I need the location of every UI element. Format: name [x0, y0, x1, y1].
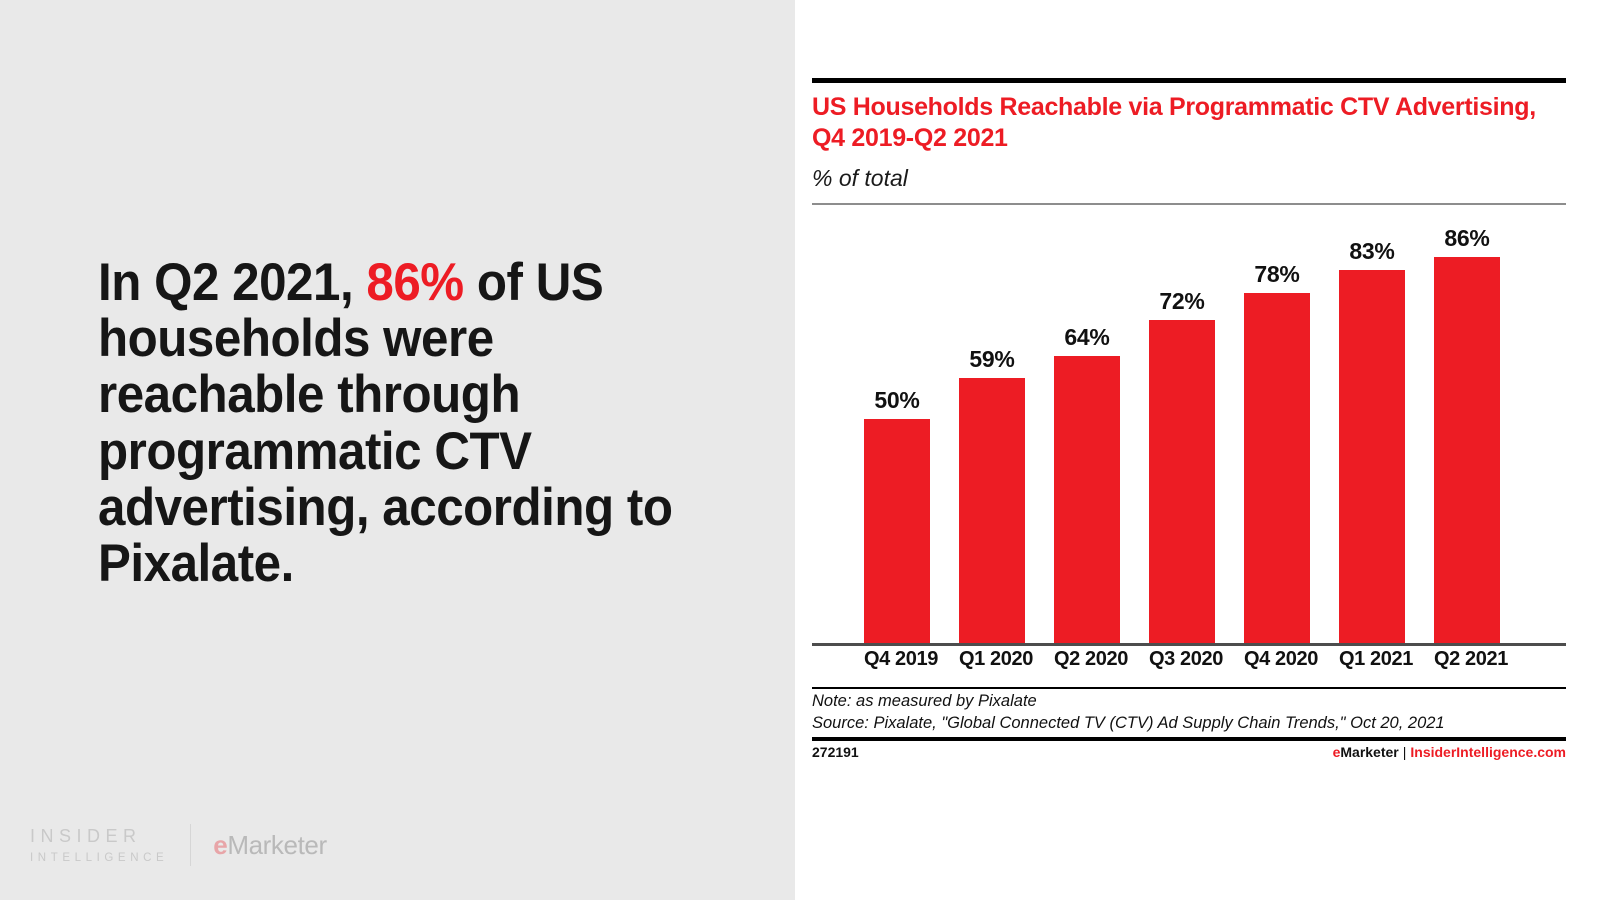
- x-axis-line: [812, 643, 1566, 646]
- plot-area: 50%59%64%72%78%83%86%: [812, 210, 1566, 644]
- bar-column[interactable]: 86%: [1434, 210, 1500, 644]
- bar-value-label: 78%: [1254, 261, 1299, 288]
- x-axis-label: Q4 2020: [1244, 648, 1310, 682]
- chart-title: US Households Reachable via Programmatic…: [812, 92, 1552, 153]
- bar-column[interactable]: 83%: [1339, 210, 1405, 644]
- x-axis-label: Q1 2021: [1339, 648, 1405, 682]
- notes-block: Note: as measured by Pixalate Source: Pi…: [812, 691, 1566, 735]
- emarketer-logo: eMarketer: [213, 830, 326, 861]
- x-axis-labels: Q4 2019Q1 2020Q2 2020Q3 2020Q4 2020Q1 20…: [864, 648, 1558, 682]
- footer-attribution: eMarketer|InsiderIntelligence.com: [1333, 744, 1566, 760]
- insider-intelligence-logo: INSIDER INTELLIGENCE: [30, 826, 168, 864]
- brand-lockup: INSIDER INTELLIGENCE eMarketer: [30, 824, 327, 866]
- bar-column[interactable]: 78%: [1244, 210, 1310, 644]
- bar-value-label: 83%: [1349, 238, 1394, 265]
- footer-site-link[interactable]: InsiderIntelligence.com: [1410, 744, 1566, 760]
- note-line: Note: as measured by Pixalate: [812, 691, 1566, 713]
- x-axis-label: Q2 2020: [1054, 648, 1120, 682]
- bar-value-label: 64%: [1064, 324, 1109, 351]
- insider-logo-line2: INTELLIGENCE: [30, 852, 168, 864]
- bar-series: 50%59%64%72%78%83%86%: [864, 210, 1558, 644]
- footer-row: 272191 eMarketer|InsiderIntelligence.com: [812, 744, 1566, 760]
- emarketer-logo-rest: Marketer: [227, 830, 326, 860]
- x-axis-label: Q4 2019: [864, 648, 930, 682]
- rule-notes: [812, 687, 1566, 689]
- emarketer-logo-e: e: [213, 830, 227, 860]
- bar-column[interactable]: 64%: [1054, 210, 1120, 644]
- x-axis-label: Q2 2021: [1434, 648, 1500, 682]
- chart-subtitle: % of total: [812, 165, 908, 192]
- source-line: Source: Pixalate, "Global Connected TV (…: [812, 713, 1566, 735]
- x-axis-label: Q1 2020: [959, 648, 1025, 682]
- rule-subtitle: [812, 203, 1566, 205]
- headline-part-0: In Q2 2021,: [98, 253, 366, 312]
- bar-value-label: 86%: [1444, 225, 1489, 252]
- bar-rect[interactable]: [1244, 293, 1310, 644]
- bar-value-label: 50%: [874, 387, 919, 414]
- bar-rect[interactable]: [959, 378, 1025, 644]
- chart-card: US Households Reachable via Programmatic…: [795, 0, 1600, 900]
- bar-value-label: 72%: [1159, 288, 1204, 315]
- bar-rect[interactable]: [1434, 257, 1500, 644]
- headline-part-1: 86%: [366, 253, 463, 312]
- bar-rect[interactable]: [864, 419, 930, 644]
- insider-logo-line1: INSIDER: [30, 826, 168, 847]
- footer-emarketer-rest: Marketer: [1340, 744, 1398, 760]
- brand-divider: [190, 824, 191, 866]
- bar-value-label: 59%: [969, 346, 1014, 373]
- x-axis-label: Q3 2020: [1149, 648, 1215, 682]
- bar-column[interactable]: 50%: [864, 210, 930, 644]
- rule-top: [812, 78, 1566, 83]
- bar-rect[interactable]: [1054, 356, 1120, 644]
- rule-footer: [812, 737, 1566, 741]
- bar-column[interactable]: 59%: [959, 210, 1025, 644]
- left-headline-panel: In Q2 2021, 86% of US households were re…: [0, 0, 795, 900]
- footer-separator: |: [1399, 744, 1411, 760]
- bar-rect[interactable]: [1149, 320, 1215, 644]
- bar-rect[interactable]: [1339, 270, 1405, 644]
- chart-id: 272191: [812, 744, 859, 760]
- headline-text: In Q2 2021, 86% of US households were re…: [98, 255, 703, 592]
- bar-column[interactable]: 72%: [1149, 210, 1215, 644]
